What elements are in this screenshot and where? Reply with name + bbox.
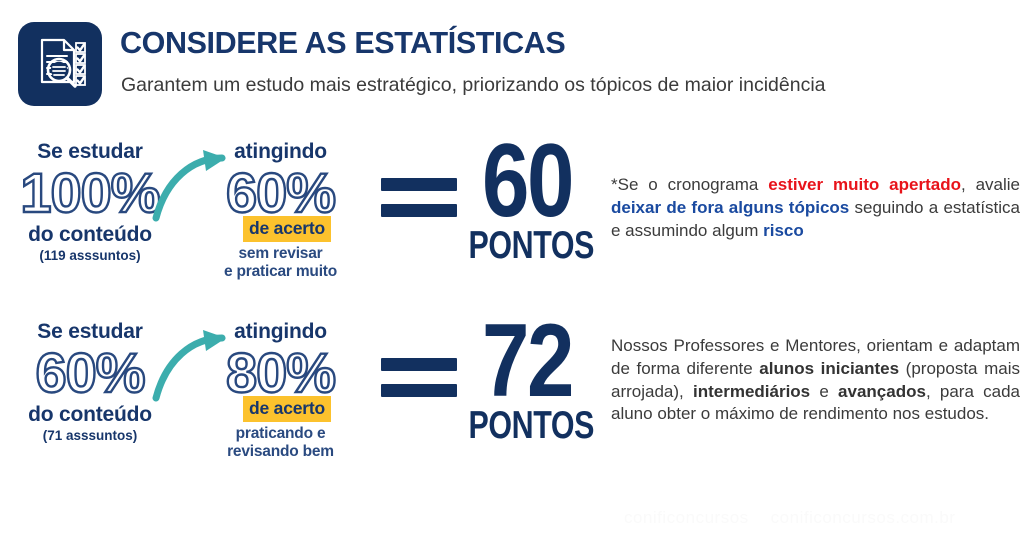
result-block-2: 72 PONTOS (452, 314, 602, 445)
row-2-highlight-1: alunos iniciantes (759, 359, 899, 378)
equals-bar-bottom (381, 384, 457, 397)
study-coverage-bottom-label-2: do conteúdo (0, 403, 180, 426)
accuracy-percent-2: 80% (193, 345, 368, 401)
row-1-highlight-red: estiver muito apertado (768, 175, 961, 194)
accuracy-top-label-2: atingindo (193, 320, 368, 343)
row-1-highlight-blue-1: deixar de fora alguns tópicos (611, 198, 849, 217)
row-1-text-part-2: , avalie (961, 175, 1020, 194)
page-title: CONSIDERE AS ESTATÍSTICAS (120, 26, 565, 61)
watermark-left: conificoncursos (624, 508, 749, 527)
document-search-checklist-icon (18, 22, 102, 106)
result-label-2: PONTOS (469, 406, 586, 445)
accuracy-note-line1-1: sem revisar (239, 245, 323, 262)
row-2-text-part-3: e (810, 382, 838, 401)
infographic-page: CONSIDERE AS ESTATÍSTICAS Garantem um es… (0, 0, 1024, 539)
accuracy-percent-1: 60% (193, 165, 368, 221)
accuracy-note-1: sem revisar e praticar muito (193, 245, 368, 280)
scenario-row-2: Se estudar 60% do conteúdo (71 asssuntos… (0, 320, 1024, 500)
equals-sign-1 (381, 178, 457, 217)
header: CONSIDERE AS ESTATÍSTICAS Garantem um es… (0, 0, 1024, 128)
equals-bar-top (381, 358, 457, 371)
equals-bar-bottom (381, 204, 457, 217)
result-number-1: 60 (466, 134, 589, 230)
watermark-right: conificoncursos.com.br (771, 508, 956, 527)
equals-sign-2 (381, 358, 457, 397)
study-coverage-count-1: (119 asssuntos) (0, 248, 180, 263)
scenario-row-1: Se estudar 100% do conteúdo (119 asssunt… (0, 140, 1024, 320)
result-number-2: 72 (466, 314, 589, 410)
row-1-description: *Se o cronograma estiver muito apertado,… (611, 174, 1020, 242)
page-subtitle: Garantem um estudo mais estratégico, pri… (121, 74, 826, 97)
equals-bar-top (381, 178, 457, 191)
row-2-description: Nossos Professores e Mentores, orientam … (611, 335, 1020, 426)
row-1-highlight-blue-2: risco (763, 221, 804, 240)
accuracy-block-2: atingindo 80% de acerto praticando e rev… (193, 320, 368, 460)
accuracy-badge-2: de acerto (243, 396, 331, 422)
accuracy-block-1: atingindo 60% de acerto sem revisar e pr… (193, 140, 368, 280)
row-2-highlight-3: avançados (838, 382, 926, 401)
accuracy-note-line2-2: revisando bem (227, 443, 334, 460)
accuracy-top-label-1: atingindo (193, 140, 368, 163)
result-block-1: 60 PONTOS (452, 134, 602, 265)
row-1-text-part-1: *Se o cronograma (611, 175, 768, 194)
accuracy-note-2: praticando e revisando bem (193, 425, 368, 460)
watermark: conificoncursosconificoncursos.com.br (624, 508, 956, 528)
accuracy-badge-1: de acerto (243, 216, 331, 242)
result-label-1: PONTOS (469, 226, 586, 265)
study-coverage-count-2: (71 asssuntos) (0, 428, 180, 443)
accuracy-note-line2-1: e praticar muito (224, 263, 337, 280)
row-2-highlight-2: intermediários (693, 382, 810, 401)
study-coverage-bottom-label-1: do conteúdo (0, 223, 180, 246)
accuracy-note-line1-2: praticando e (236, 425, 326, 442)
